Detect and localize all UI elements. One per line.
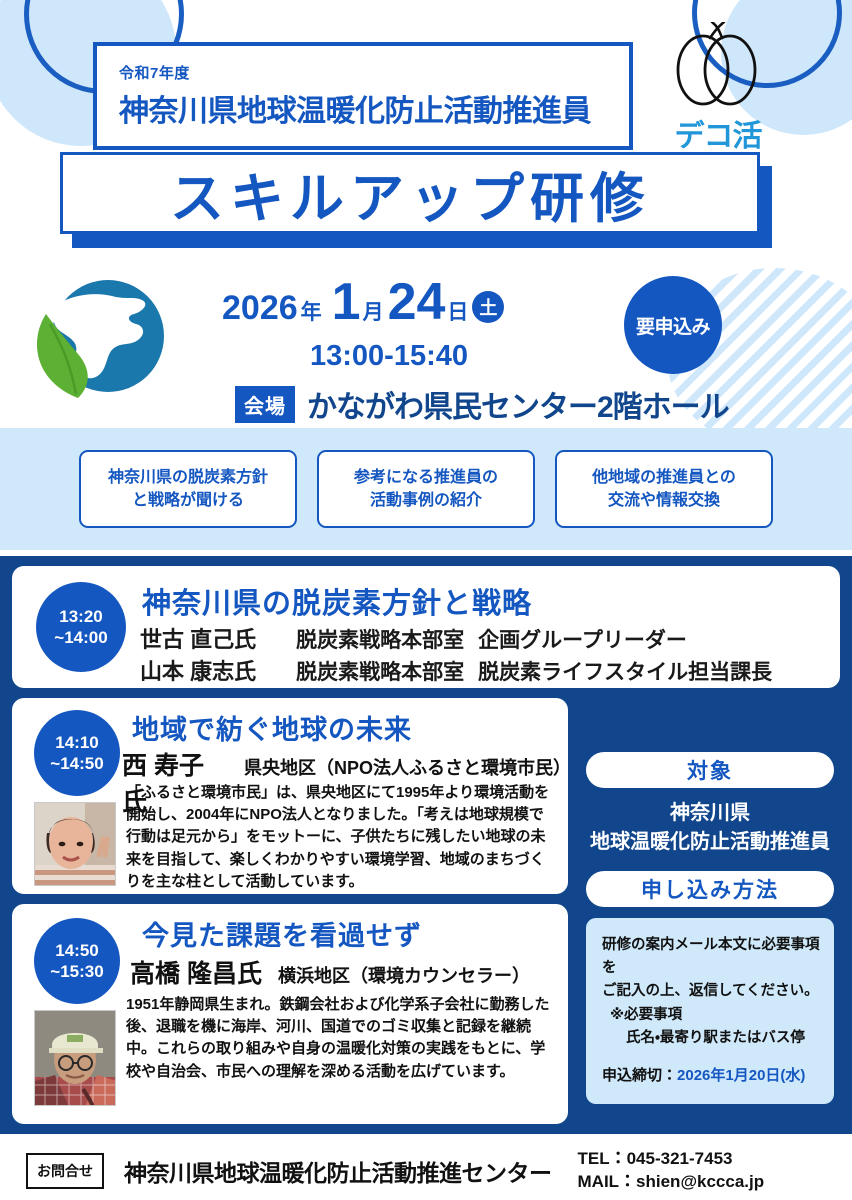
session-1-speaker-2-affiliation: 脱炭素戦略本部室 [296,656,464,686]
info-rail: 対象 神奈川県 地球温暖化防止活動推進員 申し込み方法 研修の案内メール本文に必… [586,752,834,1104]
target-line-2: 地球温暖化防止活動推進員 [586,828,834,857]
session-1-speaker-1-affiliation: 脱炭素戦略本部室 [296,624,464,654]
weekday-badge: 土 [472,291,504,323]
speaker-photo-takahashi [34,1010,116,1106]
decokatsu-leaf-icon [648,22,788,110]
speaker-photo-nishi [34,802,116,886]
benefit-3-line2: 交流や情報交換 [608,489,720,512]
program-section: 13:20 ~14:00 神奈川県の脱炭素方針と戦略 世古 直己氏 脱炭素戦略本… [0,556,852,1134]
session-3-time-end: ~15:30 [50,961,103,982]
date-day: 24 [388,272,446,332]
contact-mail: MAIL：shien@kccca.jp [578,1171,765,1194]
kanagawa-globe-leaf-icon [22,270,182,418]
apply-heading: 申し込み方法 [586,871,834,907]
decokatsu-label: デコ活 [648,111,788,155]
benefit-card-3: 他地域の推進員との 交流や情報交換 [555,450,773,528]
contact-tag: お問合せ [26,1153,104,1189]
page-title: スキルアップ研修 [170,154,650,233]
era-label: 令和7年度 [119,62,629,83]
benefit-card-1: 神奈川県の脱炭素方針 と戦略が聞ける [79,450,297,528]
event-date: 2026 年 1 月 24 日 土 [222,272,504,332]
date-month-unit: 月 [363,296,384,326]
session-3-speaker-affiliation: 横浜地区（環境カウンセラー） [278,962,530,988]
benefit-1-line2: と戦略が聞ける [132,489,244,512]
venue-tag: 会場 [235,386,295,423]
session-1-speaker-1: 世古 直己氏 脱炭素戦略本部室 企画グループリーダー [140,622,687,654]
session-card-3: 14:50 ~15:30 今見た課題を看過せず 高橋 隆昌氏 横浜地区（環境カウ… [12,904,568,1124]
session-1-speaker-2-name: 山本 康志氏 [140,654,256,686]
session-1-time-bubble: 13:20 ~14:00 [36,582,126,672]
session-3-time-start: 14:50 [55,940,98,961]
event-details: 2026 年 1 月 24 日 土 13:00-15:40 会場 かながわ県民セ… [0,262,852,424]
apply-deadline-label: 申込締切： [602,1067,677,1084]
session-2-time-bubble: 14:10 ~14:50 [34,710,120,796]
target-heading: 対象 [586,752,834,788]
session-2-title: 地域で紡ぐ地球の未来 [132,708,412,747]
session-2-bio: 「ふるさと環境市民」は、県央地区にて1995年より環境活動を開始し、2004年に… [126,782,558,893]
session-2-time-end: ~14:50 [50,753,103,774]
contact-details: TEL：045-321-7453 MAIL：shien@kccca.jp [578,1148,765,1194]
session-3-bio: 1951年静岡県生まれ。鉄鋼会社および化学系子会社に勤務した後、退職を機に海岸、… [126,994,558,1083]
session-1-time-end: ~14:00 [54,627,107,648]
footer-contact: お問合せ 神奈川県地球温暖化防止活動推進センター TEL：045-321-745… [0,1142,852,1200]
target-line-1: 神奈川県 [586,799,834,828]
session-card-2: 14:10 ~14:50 地域で紡ぐ地球の未来 西 寿子氏 県央地区（NPO法人… [12,698,568,894]
apply-line-2: ご記入の上、返信してください。 [602,980,820,1003]
benefits-band: 神奈川県の脱炭素方針 と戦略が聞ける 参考になる推進員の 活動事例の紹介 他地域… [0,428,852,550]
session-1-speaker-2-role: 脱炭素ライフスタイル担当課長 [478,656,772,686]
benefit-2-line1: 参考になる推進員の [354,466,498,489]
event-time: 13:00-15:40 [310,340,468,373]
venue-name: かながわ県民センター2階ホール [307,382,729,426]
apply-deadline: 申込締切：2026年1月20日(水) [602,1064,820,1088]
contact-organization: 神奈川県地球温暖化防止活動推進センター [124,1154,552,1188]
apply-instructions: 研修の案内メール本文に必要事項を ご記入の上、返信してください。 ※必要事項 氏… [586,918,834,1104]
session-1-speaker-1-role: 企画グループリーダー [478,624,687,654]
session-1-title: 神奈川県の脱炭素方針と戦略 [142,580,532,622]
date-year: 2026 [222,289,298,328]
registration-required-badge: 要申込み [624,276,722,374]
organizer-name: 神奈川県地球温暖化防止活動推進員 [119,86,629,130]
apply-deadline-value: 2026年1月20日(水) [677,1067,805,1084]
apply-line-4: 氏名・最寄り駅またはバス停 [602,1027,820,1050]
session-3-speaker-name: 高橋 隆昌氏 [130,954,262,990]
benefit-3-line1: 他地域の推進員との [592,466,736,489]
date-year-unit: 年 [301,296,322,326]
session-3-speaker: 高橋 隆昌氏 横浜地区（環境カウンセラー） [130,954,530,990]
event-venue: 会場 かながわ県民センター2階ホール [235,382,729,426]
contact-tel: TEL：045-321-7453 [578,1148,765,1171]
session-2-speaker-affiliation: 県央地区（NPO法人ふるさと環境市民） [244,754,568,780]
benefit-card-2: 参考になる推進員の 活動事例の紹介 [317,450,535,528]
session-3-title: 今見た課題を看過せず [142,914,422,953]
benefit-1-line1: 神奈川県の脱炭素方針 [108,466,268,489]
decokatsu-logo: デコ活 [648,22,788,155]
target-body: 神奈川県 地球温暖化防止活動推進員 [586,799,834,857]
organizer-box: 令和7年度 神奈川県地球温暖化防止活動推進員 [93,42,633,150]
title-box: スキルアップ研修 [60,152,760,234]
session-2-time-start: 14:10 [55,732,98,753]
poster-header: 令和7年度 神奈川県地球温暖化防止活動推進員 デコ活 スキルアップ研修 [0,0,852,260]
benefit-2-line2: 活動事例の紹介 [370,489,482,512]
session-1-speaker-1-name: 世古 直己氏 [140,622,256,654]
session-1-speaker-2: 山本 康志氏 脱炭素戦略本部室 脱炭素ライフスタイル担当課長 [140,654,772,686]
apply-line-3: ※必要事項 [602,1004,820,1027]
session-1-time-start: 13:20 [59,606,102,627]
session-card-1: 13:20 ~14:00 神奈川県の脱炭素方針と戦略 世古 直己氏 脱炭素戦略本… [12,566,840,688]
session-3-time-bubble: 14:50 ~15:30 [34,918,120,1004]
date-month: 1 [332,272,361,332]
date-day-unit: 日 [447,296,468,326]
apply-line-1: 研修の案内メール本文に必要事項を [602,934,820,980]
